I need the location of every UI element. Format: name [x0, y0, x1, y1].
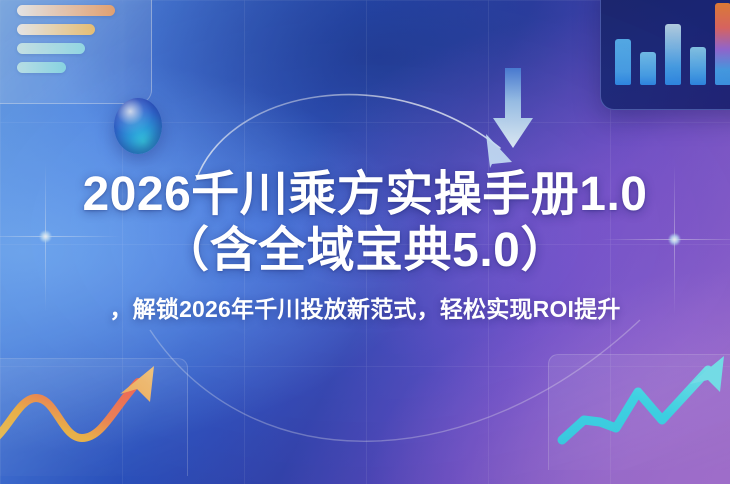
down-arrow-icon: [491, 68, 535, 156]
stat-bar-3: [17, 43, 85, 54]
bar-chart-bar: [690, 47, 706, 85]
stat-bar-4: [17, 62, 66, 73]
bar-chart-card: [600, 0, 730, 110]
cyan-growth-arrow-icon: [540, 348, 730, 484]
growth-chart-left: [0, 348, 220, 484]
stat-bar-1: [17, 5, 115, 16]
stat-bar-2: [17, 24, 95, 35]
bar-chart-bar: [640, 52, 656, 85]
bar-chart-bar: [715, 3, 730, 85]
page-title-line-1: 2026千川乘方实操手册1.0: [0, 166, 730, 224]
orange-growth-arrow-icon: [0, 348, 220, 484]
blue-sphere-icon: [114, 98, 162, 154]
stat-bars-card: [0, 0, 152, 104]
growth-chart-right: [540, 348, 730, 484]
bar-chart-bar: [665, 24, 681, 85]
poster-text-block: 2026千川乘方实操手册1.0 （含全域宝典5.0） ，解锁2026年千川投放新…: [0, 166, 730, 324]
bar-chart-bars: [615, 3, 730, 85]
promo-banner: 2026千川乘方实操手册1.0 （含全域宝典5.0） ，解锁2026年千川投放新…: [0, 0, 730, 484]
bar-chart-bar: [615, 39, 631, 85]
page-title-line-2: （含全域宝典5.0）: [0, 222, 730, 280]
page-subtitle: ，解锁2026年千川投放新范式，轻松实现ROI提升: [0, 294, 730, 324]
